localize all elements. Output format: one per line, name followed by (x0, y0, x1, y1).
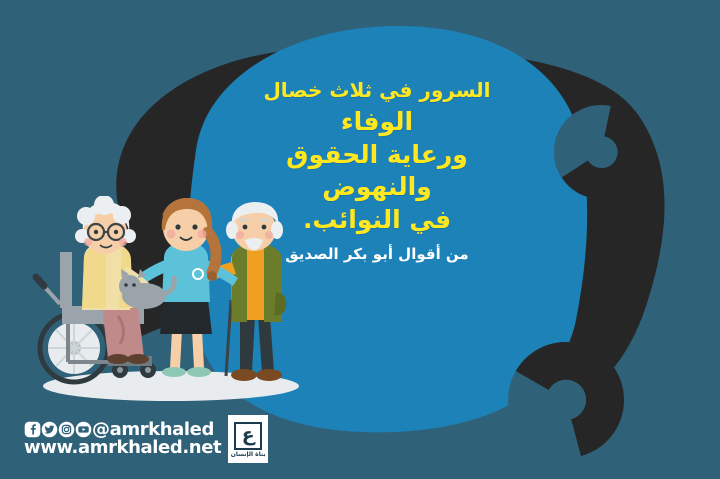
brand-text-group: @amrkhaled www.amrkhaled.net (24, 421, 221, 457)
twitter-icon[interactable] (41, 421, 58, 438)
quote-attribution: من أقوال أبو بكر الصديق (246, 246, 508, 263)
quote-line-5: في النوائب. (246, 207, 508, 233)
quote-line-2: الوفاء (246, 109, 508, 135)
quote-line-4: والنهوض (246, 174, 508, 200)
quote-line-3: ورعاية الحقوق (246, 142, 508, 168)
facebook-icon[interactable] (24, 421, 41, 438)
instagram-icon[interactable] (58, 421, 75, 438)
quote-line-1: السرور في ثلاث خصال (246, 80, 508, 100)
social-handle[interactable]: @amrkhaled (92, 421, 214, 438)
logo-caption: بناة الإنسان (231, 452, 266, 458)
logo-calligraphy-glyph: ع (242, 426, 255, 445)
logo-frame: ع (234, 422, 262, 450)
quote-block: السرور في ثلاث خصال الوفاء ورعاية الحقوق… (246, 80, 508, 263)
youtube-icon[interactable] (75, 421, 92, 438)
social-links-row: @amrkhaled (24, 421, 221, 438)
poster-canvas: السرور في ثلاث خصال الوفاء ورعاية الحقوق… (0, 0, 720, 479)
organization-logo[interactable]: ع بناة الإنسان (228, 415, 268, 463)
branding-bar: ع بناة الإنسان (24, 415, 268, 463)
website-url[interactable]: www.amrkhaled.net (24, 439, 221, 457)
